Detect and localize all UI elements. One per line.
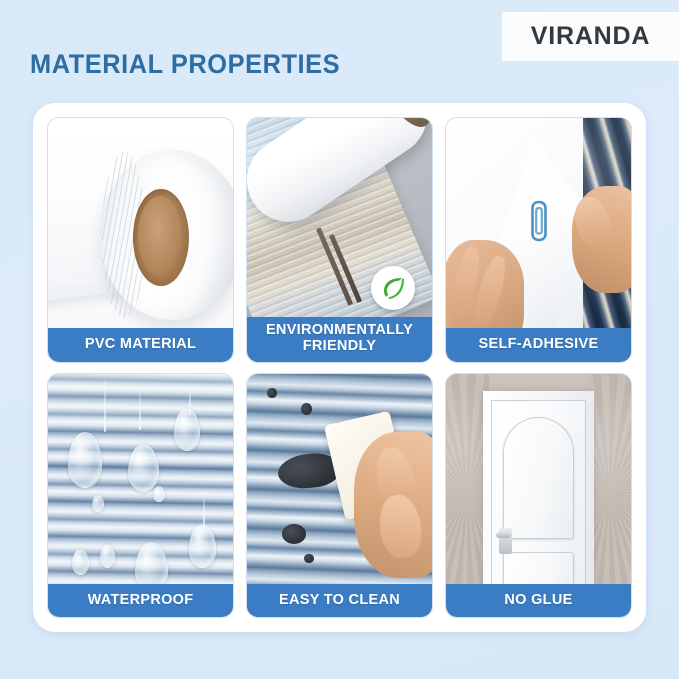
features-grid: PVC MATERIAL [47, 117, 632, 618]
door-panel-top [503, 417, 574, 539]
door-handle [499, 528, 511, 554]
page-title: MATERIAL PROPERTIES [30, 49, 340, 80]
rolled-print-end [375, 118, 432, 134]
feature-tile-self-adhesive[interactable]: SELF-ADHESIVE [445, 117, 632, 363]
feature-tile-waterproof[interactable]: WATERPROOF [47, 373, 234, 619]
stain-medium [282, 524, 306, 543]
water-drop-1 [68, 432, 101, 488]
self-adhesive-image [446, 118, 631, 362]
water-drop-9 [92, 495, 103, 512]
water-drop-5 [189, 524, 217, 567]
right-hand [572, 186, 631, 293]
paperclip-icon [526, 198, 552, 244]
feature-label-easy-to-clean: EASY TO CLEAN [247, 584, 432, 617]
water-drop-8 [153, 486, 164, 503]
water-drop-2 [128, 444, 160, 492]
leaf-icon [379, 274, 407, 302]
no-glue-door-image [446, 374, 631, 618]
feature-tile-pvc-material[interactable]: PVC MATERIAL [47, 117, 234, 363]
feature-label-environmentally-friendly: ENVIRONMENTALLY FRIENDLY [247, 317, 432, 361]
pvc-roll-image [48, 118, 233, 362]
stain-small-1 [304, 554, 313, 564]
infographic-page: VIRANDA MATERIAL PROPERTIES PVC MATERIAL [0, 0, 679, 679]
features-card: PVC MATERIAL [33, 103, 646, 632]
feature-label-self-adhesive: SELF-ADHESIVE [446, 328, 631, 361]
stain-small-2 [301, 403, 312, 415]
feature-label-no-glue: NO GLUE [446, 584, 631, 617]
feature-tile-environmentally-friendly[interactable]: ENVIRONMENTALLY FRIENDLY [246, 117, 433, 363]
pvc-core-inner [138, 196, 182, 276]
feature-tile-no-glue[interactable]: NO GLUE [445, 373, 632, 619]
water-drop-7 [100, 544, 115, 568]
stain-small-4 [267, 388, 276, 398]
easy-to-clean-image [247, 374, 432, 618]
water-drop-3 [174, 408, 200, 451]
waterproof-image [48, 374, 233, 618]
brand-name: VIRANDA [531, 22, 651, 51]
wall-right [588, 374, 631, 618]
feature-label-pvc-material: PVC MATERIAL [48, 328, 233, 361]
feature-label-waterproof: WATERPROOF [48, 584, 233, 617]
water-drip-2 [139, 388, 141, 429]
water-drip-1 [104, 378, 106, 432]
feature-tile-easy-to-clean[interactable]: EASY TO CLEAN [246, 373, 433, 619]
water-drop-6 [72, 549, 89, 575]
brand-badge: VIRANDA [502, 12, 679, 61]
